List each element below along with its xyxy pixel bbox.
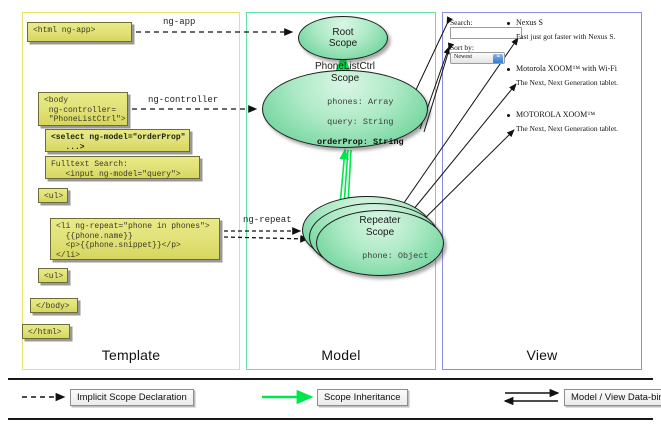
column-label-model: Model [246,347,436,363]
scope-repeater-prop-phone: phone: Object [362,251,428,261]
code-box-ul-open: <ul> [38,188,68,203]
legend-label-model-view-data-binding: Model / View Data-binding [564,389,661,406]
bullet-icon [507,22,510,25]
edge-label-ng-controller: ng-controller [148,95,218,105]
sort-by-selected-value: Newest [454,54,472,60]
column-label-template: Template [22,347,240,363]
scope-root-title-1: Root [332,27,353,38]
bullet-icon [507,68,510,71]
diagram-canvas: <html ng-app> <body ng-controller= "Phon… [0,0,661,425]
sort-by-select[interactable]: Newest ⇅ [450,52,505,64]
scope-ctrl-prop-query: query: String [327,117,393,127]
scope-ctrl-prop-phones: phones: Array [327,97,393,107]
code-box-li-ng-repeat: <li ng-repeat="phone in phones"> {{phone… [50,218,220,260]
legend-label-implicit-scope-declaration: Implicit Scope Declaration [70,389,194,406]
scope-repeater-title-1: Repeater [359,215,400,226]
search-label: Search: [450,18,473,27]
scope-phonelistctrl: PhoneListCtrl Scope phones: Array query:… [262,70,428,148]
edge-label-ng-app: ng-app [163,17,195,27]
scope-ctrl-title-1: PhoneListCtrl [315,61,375,72]
code-box-body-controller: <body ng-controller= "PhoneListCtrl"> [38,92,128,126]
code-box-fulltext-search: Fulltext Search: <input ng-model="query"… [45,156,200,179]
bullet-icon [507,114,510,117]
scope-repeater: Repeater Scope phone: Object [316,210,444,276]
scope-ctrl-title-2: Scope [331,73,359,84]
scope-root-title-2: Scope [329,38,357,49]
phone-name: MOTOROLA XOOM™ [516,110,595,119]
code-box-html-ng-app: <html ng-app> [27,22,132,42]
phone-name: Nexus S [516,18,543,27]
phone-snippet: Fast just got faster with Nexus S. [516,32,615,41]
legend-top-rule [8,378,653,380]
phone-name: Motorola XOOM™ with Wi-Fi [516,64,617,73]
legend-bottom-rule [8,418,653,420]
code-box-ul-close: <ul> [38,268,68,283]
scope-ctrl-prop-orderprop: orderProp: String [317,137,404,147]
legend-arrow-databinding [505,393,558,401]
edge-label-ng-repeat: ng-repeat [243,215,292,225]
code-box-body-end: </body> [30,298,78,313]
legend-label-scope-inheritance: Scope Inheritance [317,389,408,406]
sort-by-label: Sort by: [450,43,474,52]
view-app-preview: Search: Sort by: Newest ⇅ Nexus S Fast j… [447,16,637,356]
code-box-select-orderprop: <select ng-model="orderProp" ...> [45,129,190,152]
chevron-updown-icon: ⇅ [493,54,503,64]
search-input[interactable] [450,27,522,39]
phone-snippet: The Next, Next Generation tablet. [516,78,618,87]
phone-snippet: The Next, Next Generation tablet. [516,124,618,133]
column-label-view: View [442,347,642,363]
scope-root: Root Scope [298,16,388,60]
scope-repeater-title-2: Scope [366,227,394,238]
code-box-html-end: </html> [22,324,70,339]
